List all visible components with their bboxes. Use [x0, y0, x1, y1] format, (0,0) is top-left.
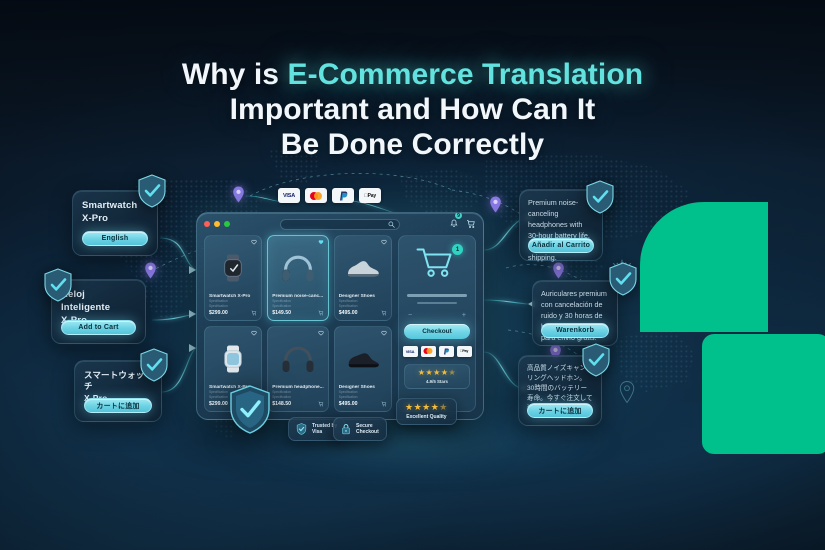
close-button[interactable] [204, 221, 210, 227]
product-price-row: $148.50 [272, 401, 323, 407]
product-spec: Specification [209, 304, 257, 309]
favorite-heart-icon[interactable] [318, 330, 324, 336]
headphones-blue-icon [281, 254, 315, 282]
visa-icon: VISA [403, 346, 418, 357]
dress-shoe-icon [345, 348, 381, 370]
product-price-row: $495.00 [339, 310, 387, 316]
maximize-button[interactable] [224, 221, 230, 227]
favorite-heart-icon[interactable] [251, 330, 257, 336]
location-pin-icon [618, 380, 636, 404]
rating-box: ★★★★★ 4.9/5 Stars [404, 364, 470, 389]
checkout-button[interactable]: Checkout [404, 324, 470, 339]
add-to-cart-icon[interactable] [381, 401, 387, 407]
map-pin-icon [232, 186, 245, 203]
product-price: $299.00 [209, 310, 228, 316]
watch-dark-icon [218, 253, 248, 283]
add-to-cart-icon[interactable] [318, 401, 324, 407]
product-price-row: $299.00 [209, 310, 257, 316]
headline-line-2: Important and How Can It [0, 93, 825, 128]
product-thumbnail [339, 331, 387, 384]
add-to-cart-icon[interactable] [381, 310, 387, 316]
verified-shield-icon [137, 174, 167, 208]
rating-text: 4.9/5 Stars [426, 379, 448, 384]
product-thumbnail [272, 240, 323, 293]
verified-shield-icon [43, 268, 73, 302]
apple-pay-icon: Pay [457, 346, 472, 357]
product-price-row: $149.50 [272, 310, 323, 316]
add-to-cart-button-es-1[interactable]: Añadir al Carrito [528, 238, 594, 253]
browser-titlebar: 9 [197, 213, 483, 235]
brand-logo [640, 202, 825, 454]
product-spec: Specification [272, 395, 323, 400]
cart-icon[interactable] [466, 219, 476, 229]
product-card[interactable]: Smartwatch X-Pro Specification Specifica… [204, 235, 262, 321]
add-to-cart-icon[interactable] [251, 310, 257, 316]
add-to-cart-button-ja[interactable]: カートに追加 [84, 398, 152, 413]
search-input[interactable] [280, 219, 400, 230]
shield-check-icon [296, 423, 307, 435]
page-title: Why is E-Commerce Translation Important … [0, 58, 825, 162]
cart-item-count: 1 [452, 244, 463, 255]
sneaker-icon [345, 257, 381, 279]
map-pin-icon [489, 196, 502, 213]
add-to-cart-icon[interactable] [318, 310, 324, 316]
product-thumbnail [272, 331, 323, 384]
product-spec: Specification [272, 304, 323, 309]
poster-canvas: Why is E-Commerce Translation Important … [0, 0, 825, 550]
product-price: $149.50 [272, 310, 291, 316]
increment-button[interactable]: + [462, 312, 466, 319]
add-to-cart-button-de[interactable]: Warenkorb [541, 323, 609, 338]
add-to-cart-button-ja-2[interactable]: カートに追加 [527, 403, 593, 418]
quality-badge: ★★★★★ Excellent Quality [396, 398, 457, 425]
notification-badge: 9 [455, 212, 462, 219]
headline-accent: E-Commerce Translation [288, 58, 644, 91]
product-card[interactable]: Designer Shoes Specification Specificati… [334, 326, 392, 412]
product-price: $148.50 [272, 401, 291, 407]
favorite-heart-icon[interactable] [381, 330, 387, 336]
product-thumbnail [339, 240, 387, 293]
trust-badge-secure[interactable]: Secure Checkout [333, 417, 387, 441]
verified-shield-icon [139, 348, 169, 382]
headline-line-3: Be Done Correctly [0, 128, 825, 163]
search-icon [388, 221, 395, 228]
secure-shield-icon [228, 385, 272, 435]
map-pin-icon [144, 262, 157, 279]
product-spec: Specification [339, 395, 387, 400]
favorite-heart-icon-active[interactable] [318, 239, 324, 245]
star-rating: ★★★★★ [418, 369, 456, 377]
browser-toolbar-icons[interactable]: 9 [449, 215, 476, 233]
product-card-selected[interactable]: Premium noise-canc... Specification Spec… [267, 235, 328, 321]
paypal-icon [439, 346, 454, 357]
cart-panel[interactable]: 1 − + Checkout VISA Pay [398, 235, 476, 412]
cart-line [407, 294, 468, 297]
product-price-row: $495.00 [339, 401, 387, 407]
add-to-cart-button-es[interactable]: Add to Cart [61, 320, 136, 335]
lock-icon [341, 423, 351, 435]
watch-white-icon [218, 344, 248, 374]
cart-summary-icon: 1 [415, 246, 459, 285]
product-thumbnail [209, 240, 257, 293]
quantity-stepper[interactable]: − + [404, 312, 470, 319]
payment-methods-strip: VISA Pay [278, 188, 381, 203]
quality-stars: ★★★★★ [405, 403, 448, 412]
apple-pay-icon: Pay [359, 188, 381, 203]
decrement-button[interactable]: − [408, 312, 412, 319]
notification-bell-icon[interactable]: 9 [449, 215, 459, 233]
quality-label: Excellent Quality [406, 414, 446, 420]
headphones-dark-icon [281, 345, 315, 373]
paypal-icon [332, 188, 354, 203]
product-price: $495.00 [339, 310, 358, 316]
cart-line [417, 302, 458, 305]
product-thumbnail [209, 331, 257, 384]
verified-shield-icon [585, 180, 615, 214]
product-spec: Specification [339, 304, 387, 309]
product-price: $495.00 [339, 401, 358, 407]
favorite-heart-icon[interactable] [381, 239, 387, 245]
product-price: $299.00 [209, 401, 228, 407]
trust-badge-text: Secure Checkout [356, 423, 379, 436]
language-pill-en[interactable]: English [82, 231, 148, 246]
mastercard-icon [421, 346, 436, 357]
minimize-button[interactable] [214, 221, 220, 227]
payment-icons-row: VISA Pay [403, 346, 472, 357]
product-card[interactable]: Designer Shoes Specification Specificati… [334, 235, 392, 321]
map-pin-icon [552, 262, 565, 279]
mastercard-icon [305, 188, 327, 203]
description-card-es[interactable]: Auriculares premium con cancelación de r… [532, 280, 618, 346]
headline-prefix: Why is [182, 58, 288, 91]
verified-shield-icon [581, 343, 611, 377]
window-controls[interactable] [204, 221, 230, 227]
verified-shield-icon [608, 262, 638, 296]
headline-line-1: Why is E-Commerce Translation [0, 58, 825, 93]
favorite-heart-icon[interactable] [251, 239, 257, 245]
product-card[interactable]: Premium headphone... Specification Speci… [267, 326, 328, 412]
visa-icon: VISA [278, 188, 300, 203]
